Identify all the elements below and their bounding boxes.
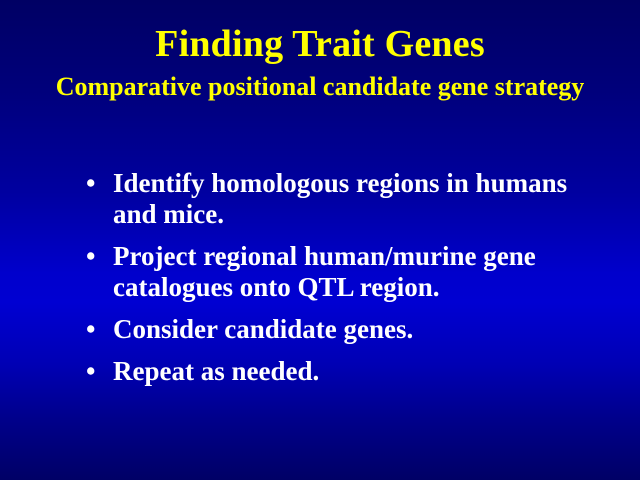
list-item: • Consider candidate genes. — [86, 314, 616, 345]
presentation-slide: Finding Trait Genes Comparative position… — [0, 0, 640, 480]
bullet-dot-icon: • — [86, 241, 113, 272]
list-item-label: Consider candidate genes. — [113, 314, 616, 345]
slide-subtitle: Comparative positional candidate gene st… — [0, 72, 640, 102]
list-item-label: Repeat as needed. — [113, 356, 616, 387]
list-item-label: Project regional human/murine gene catal… — [113, 241, 616, 303]
bullet-dot-icon: • — [86, 314, 113, 345]
list-item: • Identify homologous regions in humans … — [86, 168, 616, 230]
bullet-list: • Identify homologous regions in humans … — [86, 168, 616, 398]
bullet-dot-icon: • — [86, 168, 113, 199]
title-block: Finding Trait Genes Comparative position… — [0, 22, 640, 102]
list-item: • Project regional human/murine gene cat… — [86, 241, 616, 303]
bullet-dot-icon: • — [86, 356, 113, 387]
list-item-label: Identify homologous regions in humans an… — [113, 168, 616, 230]
list-item: • Repeat as needed. — [86, 356, 616, 387]
page-title: Finding Trait Genes — [0, 22, 640, 66]
